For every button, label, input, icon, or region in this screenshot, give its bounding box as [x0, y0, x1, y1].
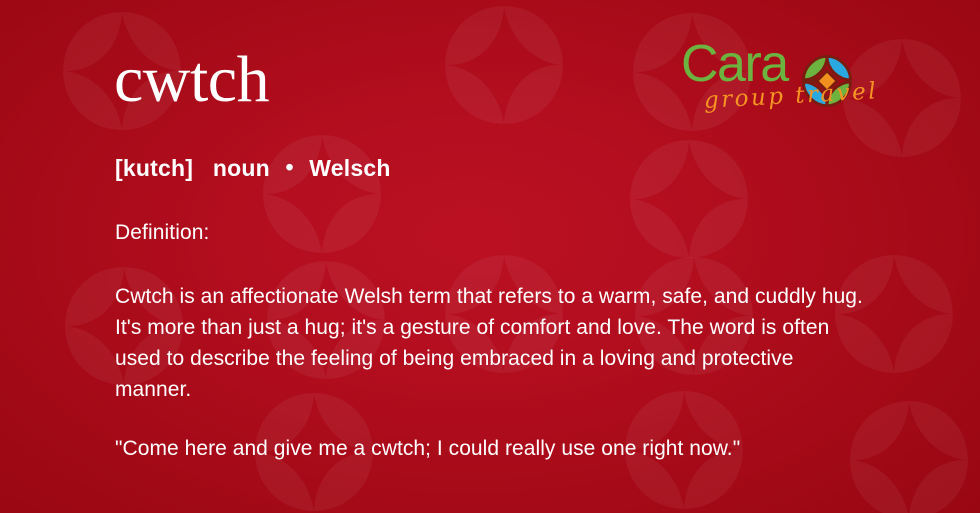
language-label: Welsch: [309, 155, 390, 181]
example-usage-quote: "Come here and give me a cwtch; I could …: [115, 433, 915, 464]
bullet-separator-icon: •: [276, 154, 302, 181]
headword-title: cwtch: [114, 47, 269, 113]
pronunciation-line: [kutch] noun • Welsch: [115, 155, 391, 182]
part-of-speech: noun: [213, 155, 270, 181]
cara-group-travel-logo[interactable]: Cara: [681, 36, 863, 126]
definition-body-text: Cwtch is an affectionate Welsh term that…: [115, 281, 875, 405]
cwtch-definition-card: cwtch [kutch] noun • Welsch Definition: …: [0, 0, 980, 513]
card-content: cwtch [kutch] noun • Welsch Definition: …: [0, 0, 980, 513]
definition-label: Definition:: [115, 221, 209, 245]
phonetic-spelling: [kutch]: [115, 155, 193, 181]
